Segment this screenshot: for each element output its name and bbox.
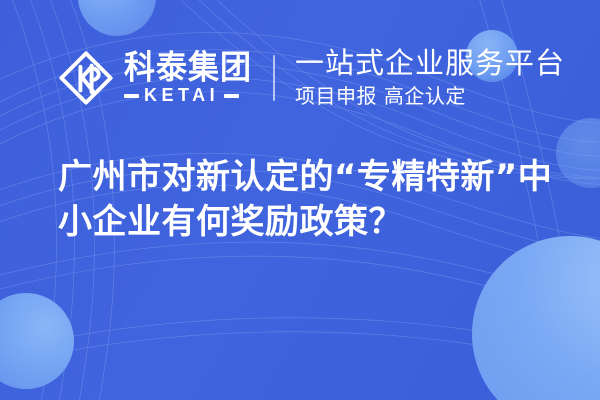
tagline-primary: 一站式企业服务平台 [295,47,565,80]
promo-banner: 科泰集团 KETAI 一站式企业服务平台 项目申报 高企认定 广州市对新认定的“… [0,0,600,400]
headline-line-1: 广州市对新认定的“专精特新”中 [58,155,558,200]
brand-name-en: KETAI [144,86,219,105]
logo-dash-left-icon [124,94,139,98]
ketai-diamond-kp-logo-icon [58,50,114,106]
header-divider [273,55,275,101]
logo-dash-right-icon [224,94,239,98]
tagline-secondary: 项目申报 高企认定 [295,84,565,108]
decorative-circle-bottom-right [472,236,600,400]
brand-logo: 科泰集团 KETAI [58,50,252,106]
headline: 广州市对新认定的“专精特新”中 小企业有何奖励政策？ [58,155,558,245]
brand-name-cn: 科泰集团 [124,50,252,86]
decorative-circle-bottom-left [0,293,74,389]
banner-header: 科泰集团 KETAI 一站式企业服务平台 项目申报 高企认定 [0,40,600,115]
headline-line-2: 小企业有何奖励政策？ [58,200,558,245]
decorative-circle-top-left [78,0,156,36]
brand-wordmark: 科泰集团 KETAI [124,50,252,105]
tagline-block: 一站式企业服务平台 项目申报 高企认定 [295,47,565,108]
decorative-circle-mid-right [556,118,600,188]
brand-name-en-row: KETAI [124,86,252,105]
